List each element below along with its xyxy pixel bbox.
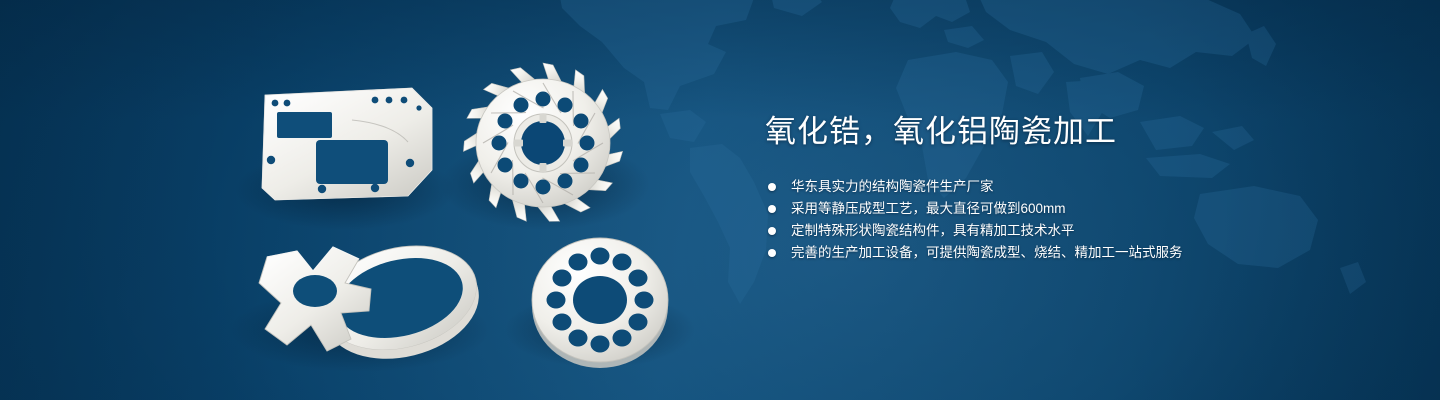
banner-feature-list: 华东具实力的结构陶瓷件生产厂家 采用等静压成型工艺，最大直径可做到600mm 定… [768, 176, 1385, 264]
list-item-label: 定制特殊形状陶瓷结构件，具有精加工技术水平 [791, 223, 1075, 238]
list-item: 定制特殊形状陶瓷结构件，具有精加工技术水平 [768, 220, 1385, 242]
bullet-dot-icon [768, 205, 776, 213]
bullet-dot-icon [768, 227, 776, 235]
banner-headline: 氧化锆，氧化铝陶瓷加工 [765, 112, 1385, 152]
list-item: 华东具实力的结构陶瓷件生产厂家 [768, 176, 1385, 198]
list-item-label: 采用等静压成型工艺，最大直径可做到600mm [791, 201, 1066, 216]
bullet-dot-icon [768, 183, 776, 191]
list-item-label: 华东具实力的结构陶瓷件生产厂家 [791, 179, 994, 194]
promo-banner: 氧化锆，氧化铝陶瓷加工 华东具实力的结构陶瓷件生产厂家 采用等静压成型工艺，最大… [0, 0, 1440, 400]
bullet-dot-icon [768, 249, 776, 257]
list-item: 采用等静压成型工艺，最大直径可做到600mm [768, 198, 1385, 220]
list-item-label: 完善的生产加工设备，可提供陶瓷成型、烧结、精加工一站式服务 [791, 245, 1183, 260]
list-item: 完善的生产加工设备，可提供陶瓷成型、烧结、精加工一站式服务 [768, 242, 1385, 264]
banner-copy-block: 氧化锆，氧化铝陶瓷加工 华东具实力的结构陶瓷件生产厂家 采用等静压成型工艺，最大… [765, 112, 1385, 264]
